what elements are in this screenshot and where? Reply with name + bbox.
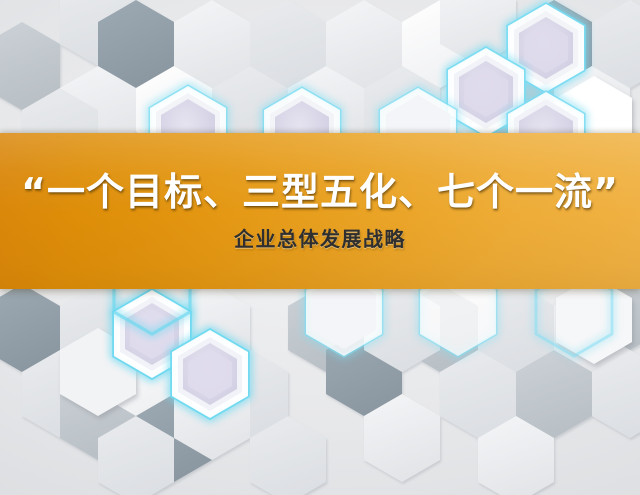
banner-headline: “一个目标、三型五化、七个一流” — [21, 172, 619, 212]
banner-subline: 企业总体发展战略 — [234, 228, 406, 250]
banner-content: “一个目标、三型五化、七个一流” 企业总体发展战略 — [0, 133, 640, 289]
slide-canvas: “一个目标、三型五化、七个一流” 企业总体发展战略 — [0, 0, 640, 495]
title-banner: “一个目标、三型五化、七个一流” 企业总体发展战略 — [0, 133, 640, 289]
